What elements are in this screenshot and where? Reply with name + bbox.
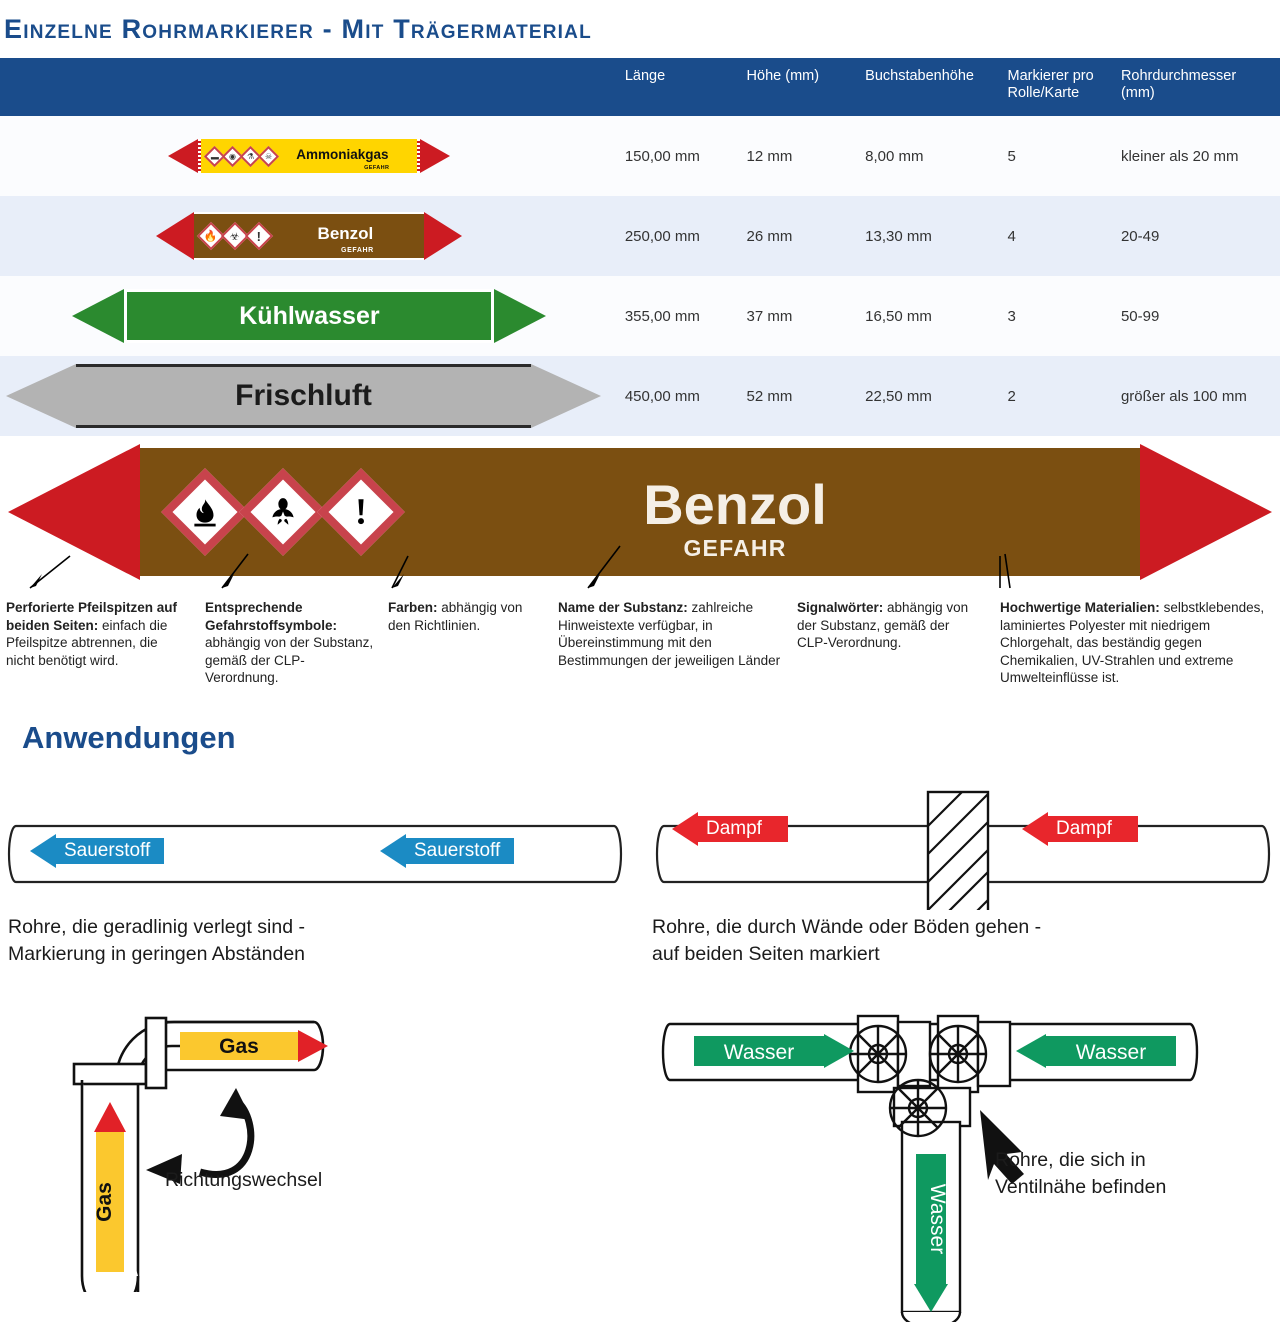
marker-signal-word: GEFAHR bbox=[400, 535, 1070, 562]
cell-hoehe: 12 mm bbox=[741, 116, 860, 196]
cell-buchstabenhoehe: 8,00 mm bbox=[859, 116, 1001, 196]
marker-label: Sauerstoff bbox=[414, 840, 500, 862]
arrow-left-icon bbox=[1016, 1034, 1046, 1068]
spec-table: Länge Höhe (mm) Buchstabenhöhe Markierer… bbox=[0, 58, 1280, 436]
callout-perforierte-pfeilspitzen: Perforierte Pfeilspitzen auf beiden Seit… bbox=[6, 599, 184, 669]
pipe-marker-benzol: 🔥 ☣ ! Benzol GEFAHR bbox=[156, 212, 462, 260]
marker-body: Benzol GEFAHR bbox=[140, 444, 1140, 580]
callout-farben: Farben: abhängig von den Richtlinien. bbox=[388, 599, 548, 634]
arrow-left-icon bbox=[72, 289, 124, 343]
arrow-left-icon bbox=[8, 444, 140, 580]
exclamation-icon bbox=[317, 468, 405, 556]
table-header-row: Länge Höhe (mm) Buchstabenhöhe Markierer… bbox=[0, 58, 1280, 116]
caption-line-2: auf beiden Seiten markiert bbox=[652, 941, 1252, 968]
col-header-rohrdurchmesser: Rohrdurchmesser (mm) bbox=[1115, 58, 1280, 116]
cell-markierer: 4 bbox=[1001, 196, 1114, 276]
marker-label: Benzol bbox=[271, 224, 419, 244]
pipe-marker-ammoniakgas: ▬ ◉ ⚗ ☠ Ammoniakgas GEFAHR bbox=[168, 139, 450, 173]
table-row: 🔥 ☣ ! Benzol GEFAHR 250,00 mm 26 mm 13,3… bbox=[0, 196, 1280, 276]
marker-label: Benzol bbox=[400, 477, 1140, 533]
cell-laenge: 355,00 mm bbox=[619, 276, 741, 356]
callout-group: Perforierte Pfeilspitzen auf beiden Seit… bbox=[0, 591, 1280, 716]
table-row: Kühlwasser 355,00 mm 37 mm 16,50 mm 3 50… bbox=[0, 276, 1280, 356]
cell-rohrdurchmesser: 20-49 bbox=[1115, 196, 1280, 276]
applications-section: Sauerstoff Sauerstoff Rohre, die geradli… bbox=[0, 762, 1280, 1242]
callout-signalwoerter: Signalwörter: abhängig von der Substanz,… bbox=[797, 599, 982, 652]
caption-line-1: Rohre, die sich in bbox=[995, 1147, 1275, 1174]
pipe-marker-kuehlwasser: Kühlwasser bbox=[72, 289, 546, 343]
pipe-marker-frischluft: Frischluft bbox=[6, 364, 601, 428]
table-head: Länge Höhe (mm) Buchstabenhöhe Markierer… bbox=[0, 58, 1280, 116]
cell-laenge: 250,00 mm bbox=[619, 196, 741, 276]
caption-direction-change: Richtungswechsel bbox=[165, 1167, 322, 1194]
ghs-pictogram-group: 🔥 ☣ ! bbox=[199, 226, 271, 246]
cell-markierer: 5 bbox=[1001, 116, 1114, 196]
callout-name-der-substanz: Name der Substanz: zahlreiche Hinweistex… bbox=[558, 599, 783, 669]
arrow-left-icon bbox=[380, 834, 406, 868]
marker-label: Ammoniakgas bbox=[277, 147, 413, 162]
flame-icon bbox=[161, 468, 249, 556]
cell-markierer: 3 bbox=[1001, 276, 1114, 356]
caption-line-1: Rohre, die geradlinig verlegt sind - bbox=[8, 914, 568, 941]
marker-body: Dampf bbox=[698, 816, 788, 842]
marker-label-gas-horizontal: Gas bbox=[219, 1035, 259, 1058]
marker-body: ▬ ◉ ⚗ ☠ Ammoniakgas GEFAHR bbox=[201, 139, 417, 173]
marker-body: Kühlwasser bbox=[124, 289, 494, 343]
callout-hochwertige-materialien: Hochwertige Materialien: selbstklebendes… bbox=[1000, 599, 1278, 687]
callout-title: Farben: bbox=[388, 600, 438, 615]
callout-title: Signalwörter: bbox=[797, 600, 883, 615]
arrow-right-icon bbox=[298, 1030, 328, 1062]
page-title: Einzelne Rohrmarkierer - mit Trägermater… bbox=[0, 0, 1280, 58]
marker-body: Dampf bbox=[1048, 816, 1138, 842]
caption-wall-pipes: Rohre, die durch Wände oder Böden gehen … bbox=[652, 914, 1252, 968]
cell-buchstabenhoehe: 13,30 mm bbox=[859, 196, 1001, 276]
arrow-right-icon bbox=[824, 1034, 854, 1068]
marker-label-gas-vertical: Gas bbox=[93, 1182, 116, 1222]
arrow-left-icon bbox=[156, 212, 194, 260]
pipe-marker-dampf-1: Dampf bbox=[672, 812, 788, 846]
marker-body: 🔥 ☣ ! Benzol GEFAHR bbox=[194, 212, 424, 260]
marker-label: Dampf bbox=[706, 818, 762, 840]
arrow-right-icon bbox=[531, 364, 601, 428]
cell-markierer: 2 bbox=[1001, 356, 1114, 436]
table-row: Frischluft 450,00 mm 52 mm 22,50 mm 2 gr… bbox=[0, 356, 1280, 436]
arrow-left-icon bbox=[1022, 812, 1048, 846]
exclamation-glyph bbox=[344, 495, 378, 529]
marker-body: Frischluft bbox=[76, 364, 531, 428]
pipe-marker-sauerstoff-2: Sauerstoff bbox=[380, 834, 514, 868]
marker-sample-cell: 🔥 ☣ ! Benzol GEFAHR bbox=[0, 196, 619, 276]
marker-label-wasser-left: Wasser bbox=[724, 1041, 794, 1064]
caption-line-2: Markierung in geringen Abständen bbox=[8, 941, 568, 968]
cell-laenge: 450,00 mm bbox=[619, 356, 741, 436]
pipe-marker-sauerstoff-1: Sauerstoff bbox=[30, 834, 164, 868]
ghs-pictogram-group: ▬ ◉ ⚗ ☠ bbox=[205, 149, 277, 164]
cell-hoehe: 37 mm bbox=[741, 276, 860, 356]
environment-icon: ☠ bbox=[258, 145, 279, 166]
arrow-left-icon bbox=[168, 139, 198, 173]
callout-title: Entsprechende Gefahrstoffsymbole: bbox=[205, 600, 337, 633]
marker-body: Sauerstoff bbox=[56, 838, 164, 864]
cell-rohrdurchmesser: 50-99 bbox=[1115, 276, 1280, 356]
cell-rohrdurchmesser: kleiner als 20 mm bbox=[1115, 116, 1280, 196]
marker-signal-word: GEFAHR bbox=[364, 165, 389, 171]
marker-sample-cell: Kühlwasser bbox=[0, 276, 619, 356]
marker-body: Sauerstoff bbox=[406, 838, 514, 864]
wall-hatch-icon bbox=[928, 792, 988, 910]
marker-label: Kühlwasser bbox=[239, 302, 379, 331]
marker-label-wasser-right: Wasser bbox=[1076, 1041, 1146, 1064]
cell-rohrdurchmesser: größer als 100 mm bbox=[1115, 356, 1280, 436]
health-hazard-glyph bbox=[266, 495, 300, 529]
caption-valve-pipes: Rohre, die sich in Ventilnähe befinden bbox=[995, 1147, 1275, 1201]
exclamation-icon: ! bbox=[245, 222, 273, 250]
callout-gefahrstoffsymbole: Entsprechende Gefahrstoffsymbole: abhäng… bbox=[205, 599, 375, 687]
ghs-pictogram-group bbox=[166, 481, 400, 543]
callout-title: Hochwertige Materialien: bbox=[1000, 600, 1160, 615]
benzol-detail-diagram: Benzol GEFAHR bbox=[0, 436, 1280, 591]
callout-body: abhängig von der Substanz, gemäß der CLP… bbox=[205, 635, 373, 685]
arrow-left-icon bbox=[30, 834, 56, 868]
caption-line-1: Rohre, die durch Wände oder Böden gehen … bbox=[652, 914, 1252, 941]
cell-hoehe: 26 mm bbox=[741, 196, 860, 276]
health-hazard-icon bbox=[239, 468, 327, 556]
cell-buchstabenhoehe: 22,50 mm bbox=[859, 356, 1001, 436]
cell-buchstabenhoehe: 16,50 mm bbox=[859, 276, 1001, 356]
arrow-right-icon bbox=[1140, 444, 1272, 580]
pipe-marker-benzol-large: Benzol GEFAHR bbox=[8, 444, 1272, 580]
col-header-buchstabenhoehe: Buchstabenhöhe bbox=[859, 58, 1001, 116]
marker-label: Sauerstoff bbox=[64, 840, 150, 862]
arrow-right-icon bbox=[420, 139, 450, 173]
cell-laenge: 150,00 mm bbox=[619, 116, 741, 196]
callout-title: Name der Substanz: bbox=[558, 600, 688, 615]
arrow-up-icon bbox=[94, 1102, 126, 1132]
table-row: ▬ ◉ ⚗ ☠ Ammoniakgas GEFAHR 150,00 mm bbox=[0, 116, 1280, 196]
caption-line-1: Richtungswechsel bbox=[165, 1167, 322, 1194]
col-header-markierer: Markierer pro Rolle/Karte bbox=[1001, 58, 1114, 116]
marker-sample-cell: Frischluft bbox=[0, 356, 619, 436]
col-header-laenge: Länge bbox=[619, 58, 741, 116]
marker-label: Frischluft bbox=[235, 379, 372, 413]
marker-sample-cell: ▬ ◉ ⚗ ☠ Ammoniakgas GEFAHR bbox=[0, 116, 619, 196]
pipe-diagram-elbow: Gas Gas bbox=[60, 1002, 460, 1292]
col-header-sample bbox=[0, 58, 619, 116]
caption-straight-pipes: Rohre, die geradlinig verlegt sind - Mar… bbox=[8, 914, 568, 968]
applications-title: Anwendungen bbox=[0, 716, 1280, 762]
arrow-left-icon bbox=[6, 364, 76, 428]
caption-line-2: Ventilnähe befinden bbox=[995, 1174, 1275, 1201]
arrow-left-icon bbox=[672, 812, 698, 846]
cell-hoehe: 52 mm bbox=[741, 356, 860, 436]
arrow-right-icon bbox=[494, 289, 546, 343]
arrow-right-icon bbox=[424, 212, 462, 260]
marker-label-wasser-down: Wasser bbox=[926, 1184, 949, 1254]
pipe-marker-dampf-2: Dampf bbox=[1022, 812, 1138, 846]
marker-label: Dampf bbox=[1056, 818, 1112, 840]
table-body: ▬ ◉ ⚗ ☠ Ammoniakgas GEFAHR 150,00 mm bbox=[0, 116, 1280, 436]
flame-glyph bbox=[188, 495, 222, 529]
col-header-hoehe: Höhe (mm) bbox=[741, 58, 860, 116]
marker-signal-word: GEFAHR bbox=[290, 247, 424, 254]
